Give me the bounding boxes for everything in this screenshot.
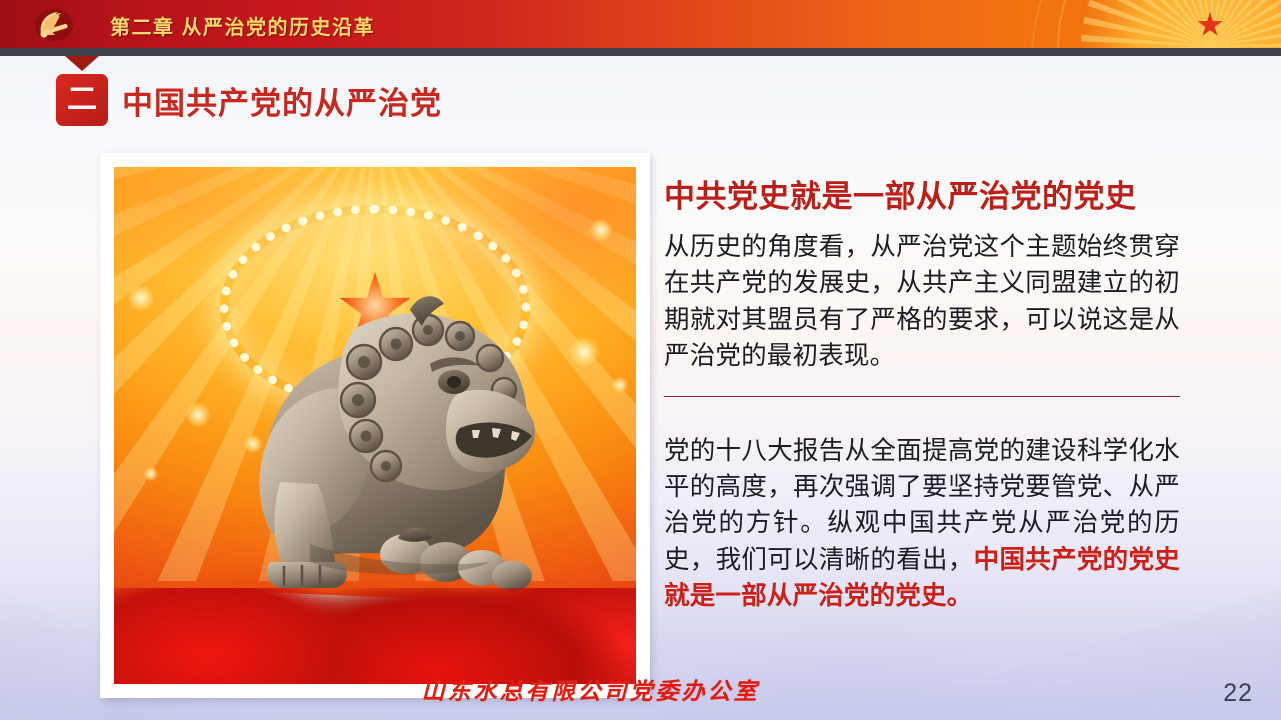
red-silk-drape	[114, 588, 636, 684]
slide-header-banner: 第二章 从严治党的历史沿革	[0, 0, 1281, 48]
bokeh-light-icon	[144, 467, 158, 481]
section-number-badge: 二	[56, 74, 108, 126]
content-text-column: 中共党史就是一部从严治党的党史 从历史的角度看，从严治党这个主题始终贯穿在共产党…	[664, 178, 1180, 614]
section-title: 中国共产党的从严治党	[122, 78, 442, 123]
bokeh-light-icon	[612, 377, 628, 393]
presentation-slide: 第二章 从严治党的历史沿革 二 中国共产党的从严治党	[0, 0, 1281, 720]
bokeh-light-icon	[128, 285, 154, 311]
stone-lion-figure	[160, 232, 590, 632]
triangle-down-icon	[65, 56, 99, 71]
photo-frame	[100, 153, 650, 698]
section-badge-group: 二	[56, 74, 108, 126]
text-divider	[664, 396, 1180, 397]
footer-organization: 山东水总有限公司党委办公室	[0, 672, 1281, 706]
hammer-sickle-icon	[34, 6, 74, 42]
paragraph-1: 从历史的角度看，从严治党这个主题始终贯穿在共产党的发展史，从共产主义同盟建立的初…	[664, 229, 1180, 374]
bokeh-light-icon	[590, 219, 612, 241]
banner-sunburst-icon	[1081, 0, 1281, 48]
page-number: 22	[1223, 679, 1253, 708]
chapter-title: 第二章 从严治党的历史沿革	[110, 11, 375, 40]
paragraph-2: 党的十八大报告从全面提高党的建设科学化水平的高度，再次强调了要坚持党要管党、从严…	[664, 433, 1180, 614]
section-heading: 二 中国共产党的从严治党	[56, 74, 442, 126]
lead-heading: 中共党史就是一部从严治党的党史	[664, 178, 1180, 215]
stone-lion-photo	[114, 167, 636, 684]
header-underbar	[0, 48, 1281, 56]
